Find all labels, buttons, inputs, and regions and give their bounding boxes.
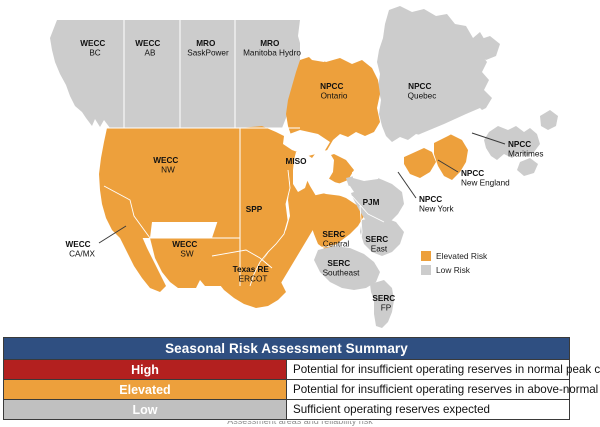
legend-item-elevated: Elevated Risk xyxy=(421,249,531,263)
map-label-wecc-ca-mx: WECC CA/MX xyxy=(66,234,96,259)
region-shape-quebec-northeast xyxy=(478,36,500,60)
table-row: Low Sufficient operating reserves expect… xyxy=(4,400,570,420)
risk-map: WECC BC WECC AB MRO SaskPower MRO Manito… xyxy=(0,0,600,330)
map-label-spp: SPP xyxy=(246,205,263,214)
table-header-row: Seasonal Risk Assessment Summary xyxy=(4,338,570,360)
map-svg: WECC BC WECC AB MRO SaskPower MRO Manito… xyxy=(0,0,600,330)
risk-description-elevated: Potential for insufficient operating res… xyxy=(287,380,570,400)
risk-level-elevated: Elevated xyxy=(4,380,287,400)
region-shape-mro-saskpower xyxy=(180,20,235,128)
map-label-npcc-new-england: NPCC New England xyxy=(461,163,510,188)
risk-description-low: Sufficient operating reserves expected xyxy=(287,400,570,420)
map-label-npcc-new-york: NPCC New York xyxy=(419,189,454,214)
table-title: Seasonal Risk Assessment Summary xyxy=(4,338,570,360)
legend-label-elevated: Elevated Risk xyxy=(436,251,487,261)
legend-swatch-elevated-icon xyxy=(421,251,431,261)
risk-level-high: High xyxy=(4,360,287,380)
risk-description-high: Potential for insufficient operating res… xyxy=(287,360,570,380)
map-label-pjm: PJM xyxy=(363,198,380,207)
region-shape-wecc-ab xyxy=(124,20,180,128)
figure-caption-text: Assessment areas and reliability risk xyxy=(0,421,600,426)
figure-caption-clipped: Assessment areas and reliability risk xyxy=(0,421,600,427)
legend-item-low: Low Risk xyxy=(421,263,531,277)
us-elevated-risk-regions xyxy=(99,126,468,308)
hudson-bay xyxy=(298,18,338,62)
legend-label-low: Low Risk xyxy=(436,265,470,275)
map-legend: Elevated Risk Low Risk xyxy=(421,249,531,277)
map-label-miso: MISO xyxy=(286,157,308,166)
region-shape-npcc-quebec xyxy=(377,6,492,142)
region-shape-maritimes-island xyxy=(540,110,558,130)
region-shape-maritimes-ns xyxy=(517,158,538,176)
risk-level-low: Low xyxy=(4,400,287,420)
region-shape-wecc-bc xyxy=(50,20,124,128)
seasonal-risk-assessment-summary-table: Seasonal Risk Assessment Summary High Po… xyxy=(3,337,570,420)
table-row: High Potential for insufficient operatin… xyxy=(4,360,570,380)
table-row: Elevated Potential for insufficient oper… xyxy=(4,380,570,400)
legend-swatch-low-icon xyxy=(421,265,431,275)
